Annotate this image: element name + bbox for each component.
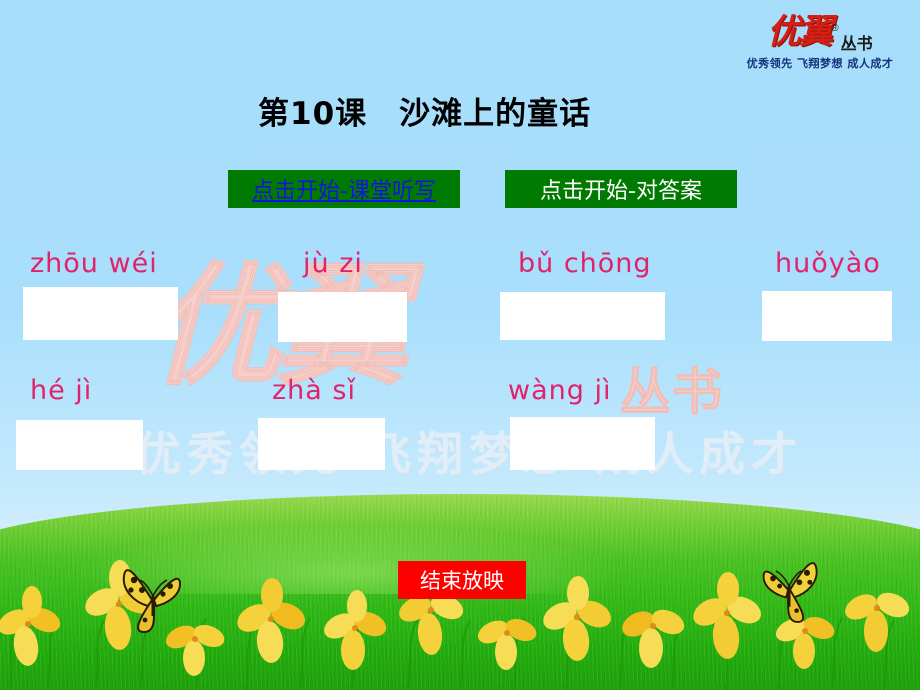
page-title: 第10课 沙滩上的童话 bbox=[258, 88, 591, 133]
logo-tagline: 优秀领先 飞翔梦想 成人成才 bbox=[730, 55, 910, 71]
logo-brand-text: 优翼 bbox=[767, 12, 831, 52]
answer-box-wangji[interactable] bbox=[510, 417, 655, 470]
end-show-label: 结束放映 bbox=[420, 565, 504, 595]
pinyin-zhouwei: zhōu wéi bbox=[30, 248, 158, 279]
pinyin-heji: hé jì bbox=[30, 375, 92, 406]
answer-box-zhouwei[interactable] bbox=[23, 287, 178, 340]
pinyin-juzi: jù zi bbox=[303, 248, 363, 279]
pinyin-wangji: wàng jì bbox=[508, 375, 611, 406]
pinyin-huoyao: huǒyào bbox=[775, 248, 881, 279]
watermark-tagline: 优秀领先 飞翔梦想 成人成才 bbox=[135, 418, 835, 484]
start-dictation-button[interactable]: 点击开始-课堂听写 bbox=[228, 170, 460, 208]
logo-series-text: 丛书 bbox=[841, 30, 873, 54]
start-dictation-label: 点击开始-课堂听写 bbox=[252, 173, 436, 205]
slide-canvas: 优翼 丛书 优秀领先 飞翔梦想 成人成才 优翼®丛书 优秀领先 飞翔梦想 成人成… bbox=[0, 0, 920, 690]
answer-box-huoyao[interactable] bbox=[762, 291, 892, 341]
pinyin-zhasi: zhà sǐ bbox=[272, 375, 356, 406]
check-answers-button[interactable]: 点击开始-对答案 bbox=[505, 170, 737, 208]
registered-mark-icon: ® bbox=[831, 23, 838, 34]
butterfly-left-icon bbox=[118, 556, 190, 634]
pinyin-buchong: bǔ chōng bbox=[518, 248, 652, 279]
end-show-button[interactable]: 结束放映 bbox=[398, 561, 526, 599]
answer-box-juzi[interactable] bbox=[278, 292, 407, 342]
answer-box-buchong[interactable] bbox=[500, 292, 665, 340]
answer-box-zhasi[interactable] bbox=[258, 418, 385, 470]
watermark-series: 丛书 bbox=[620, 352, 724, 424]
publisher-logo: 优翼®丛书 优秀领先 飞翔梦想 成人成才 bbox=[730, 12, 910, 90]
butterfly-right-icon bbox=[756, 550, 824, 624]
check-answers-label: 点击开始-对答案 bbox=[540, 173, 702, 205]
answer-box-heji[interactable] bbox=[16, 420, 143, 470]
